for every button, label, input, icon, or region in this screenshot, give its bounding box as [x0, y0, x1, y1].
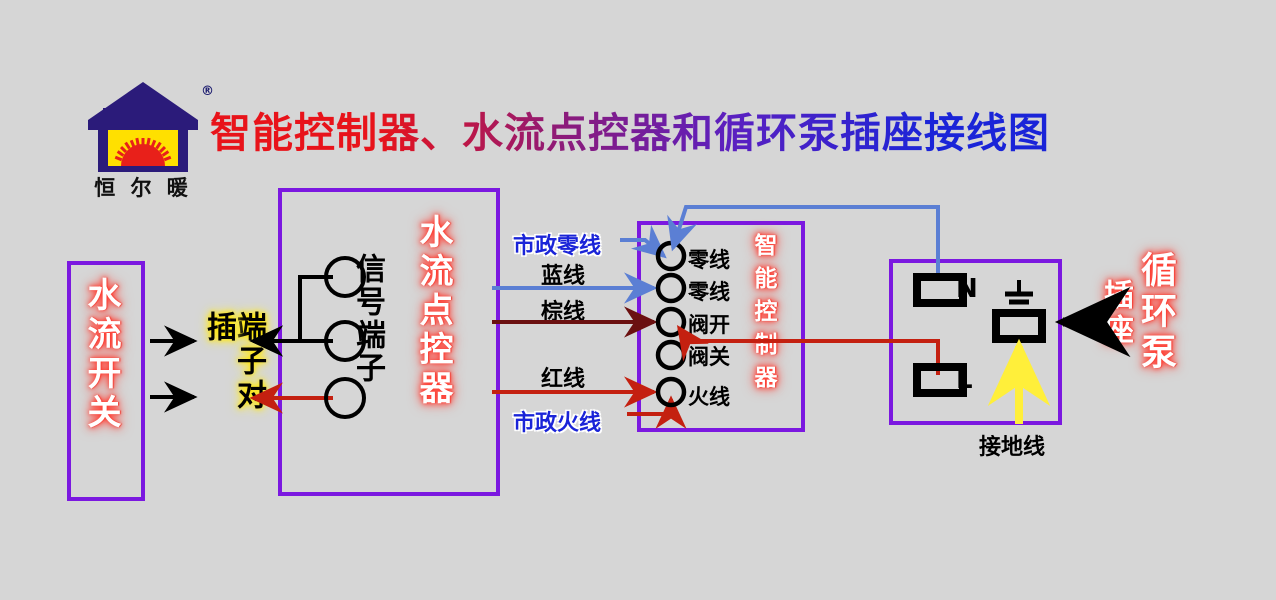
smart-controller-label: 智能控制器 — [751, 233, 774, 413]
wire-label-brown-wire: 棕线 — [541, 294, 585, 326]
ground-wire-label: 接地线 — [979, 429, 1045, 461]
registered-trademark-icon: ® — [201, 84, 214, 99]
logo-brand-text: 恒 尔 暖 — [84, 172, 202, 202]
socket-side-label: 插座 — [1100, 279, 1130, 375]
socket-live-label: L — [956, 365, 973, 395]
page-title: 智能控制器、水流点控器和循环泵插座接线图 — [210, 99, 1050, 159]
controller-terminal-label-4: 火线 — [688, 381, 730, 411]
wire-label-municipal-live: 市政火线 — [513, 405, 601, 437]
socket-neutral-label: N — [956, 274, 978, 304]
controller-terminal-label-3: 阀关 — [688, 341, 730, 371]
controller-terminal-label-1: 零线 — [688, 276, 730, 306]
flow-switch-label: 水流开关 — [84, 277, 118, 481]
wire-label-red-wire: 红线 — [541, 361, 585, 393]
controller-terminal-label-2: 阀开 — [688, 309, 730, 339]
logo-house-icon — [84, 80, 202, 182]
circulation-pump-label: 循环泵 — [1137, 251, 1173, 403]
flow-switch-arrows — [150, 341, 194, 397]
signal-terminal-label: 信号端子 — [352, 253, 382, 429]
flow-point-controller-box — [278, 188, 500, 496]
flow-point-controller-label: 水流点控器 — [416, 214, 450, 470]
wire-label-municipal-neutral: 市政零线 — [513, 228, 601, 260]
wire-label-blue-wire: 蓝线 — [541, 258, 585, 290]
controller-terminal-label-0: 零线 — [688, 244, 730, 274]
company-logo: ® 恒 尔 暖 — [84, 80, 202, 200]
terminal-plug-label: 端子对插 — [203, 311, 263, 439]
